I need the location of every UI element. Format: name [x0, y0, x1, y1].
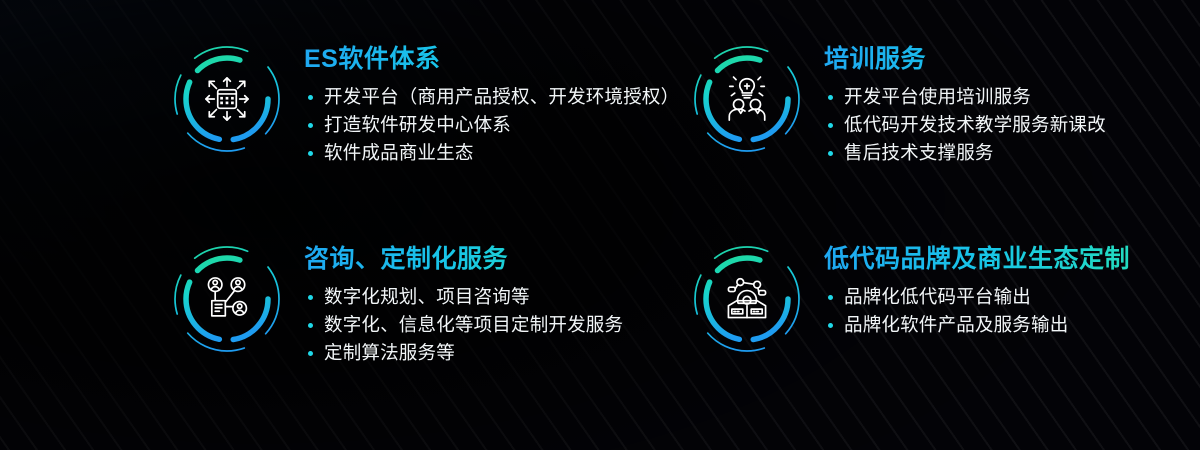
icon-ring-4: [688, 240, 806, 358]
list-item: 售后技术支撑服务: [824, 139, 1200, 166]
icon-ring-2: [688, 40, 806, 158]
icon-ring-1: [168, 40, 286, 158]
list-item: 定制算法服务等: [304, 339, 688, 366]
card-title-2: 培训服务: [824, 44, 1200, 74]
list-item: 数字化规划、项目咨询等: [304, 283, 688, 310]
service-card-consulting-customization[interactable]: 咨询、定制化服务 数字化规划、项目咨询等 数字化、信息化等项目定制开发服务 定制…: [168, 238, 688, 438]
card-bullets-2: 开发平台使用培训服务 低代码开发技术教学服务新课改 售后技术支撑服务: [824, 83, 1200, 166]
card-body-4: 低代码品牌及商业生态定制 品牌化低代码平台输出 品牌化软件产品及服务输出: [824, 238, 1200, 339]
card-title-1: ES软件体系: [304, 44, 688, 74]
service-card-lowcode-brand-ecosystem[interactable]: 低代码品牌及商业生态定制 品牌化低代码平台输出 品牌化软件产品及服务输出: [688, 238, 1200, 438]
service-card-es-software-system[interactable]: ES软件体系 开发平台（商用产品授权、开发环境授权） 打造软件研发中心体系 软件…: [168, 38, 688, 238]
card-title-3: 咨询、定制化服务: [304, 244, 688, 274]
card-bullets-3: 数字化规划、项目咨询等 数字化、信息化等项目定制开发服务 定制算法服务等: [304, 283, 688, 366]
list-item: 品牌化低代码平台输出: [824, 283, 1200, 310]
factory-gear-network-icon: [688, 240, 806, 358]
list-item: 软件成品商业生态: [304, 139, 688, 166]
icon-ring-3: [168, 240, 286, 358]
list-item: 数字化、信息化等项目定制开发服务: [304, 311, 688, 338]
card-body-3: 咨询、定制化服务 数字化规划、项目咨询等 数字化、信息化等项目定制开发服务 定制…: [304, 238, 688, 367]
card-body-1: ES软件体系 开发平台（商用产品授权、开发环境授权） 打造软件研发中心体系 软件…: [304, 38, 688, 167]
list-item: 开发平台使用培训服务: [824, 83, 1200, 110]
chip-expand-icon: [168, 40, 286, 158]
list-item: 低代码开发技术教学服务新课改: [824, 111, 1200, 138]
service-card-grid: ES软件体系 开发平台（商用产品授权、开发环境授权） 打造软件研发中心体系 软件…: [0, 0, 1200, 450]
card-bullets-4: 品牌化低代码平台输出 品牌化软件产品及服务输出: [824, 283, 1200, 338]
lightbulb-people-icon: [688, 40, 806, 158]
card-title-4: 低代码品牌及商业生态定制: [824, 244, 1200, 274]
people-network-document-icon: [168, 240, 286, 358]
list-item: 开发平台（商用产品授权、开发环境授权）: [304, 83, 688, 110]
service-card-training-service[interactable]: 培训服务 开发平台使用培训服务 低代码开发技术教学服务新课改 售后技术支撑服务: [688, 38, 1200, 238]
list-item: 品牌化软件产品及服务输出: [824, 311, 1200, 338]
list-item: 打造软件研发中心体系: [304, 111, 688, 138]
card-body-2: 培训服务 开发平台使用培训服务 低代码开发技术教学服务新课改 售后技术支撑服务: [824, 38, 1200, 167]
card-bullets-1: 开发平台（商用产品授权、开发环境授权） 打造软件研发中心体系 软件成品商业生态: [304, 83, 688, 166]
slide-canvas: ES软件体系 开发平台（商用产品授权、开发环境授权） 打造软件研发中心体系 软件…: [0, 0, 1200, 450]
